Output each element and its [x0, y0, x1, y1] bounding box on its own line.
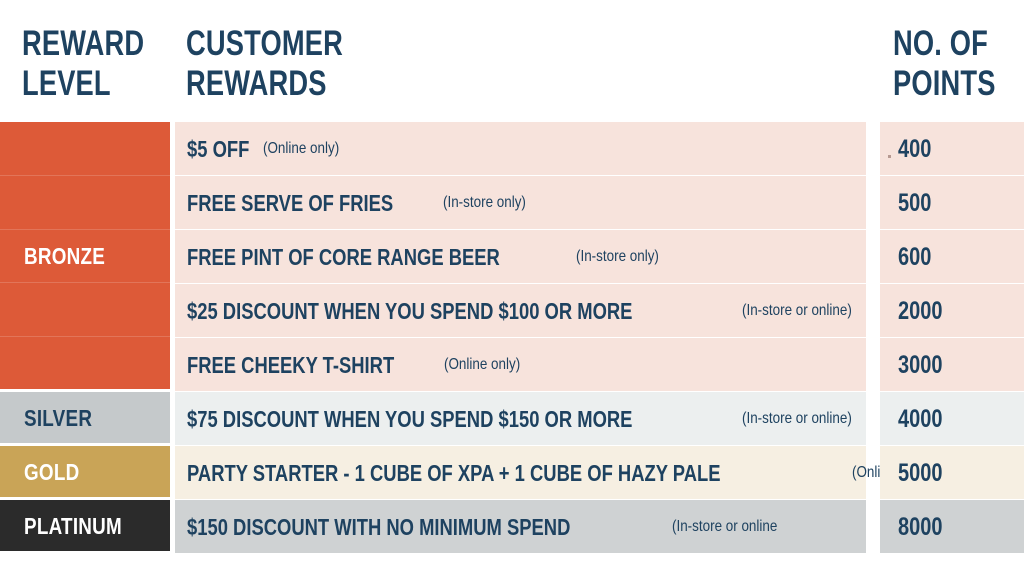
- reward-title: FREE SERVE OF FRIES: [187, 190, 393, 216]
- table-row: $75 DISCOUNT WHEN YOU SPEND $150 OR MORE…: [0, 392, 1024, 445]
- points-cell: 2000: [880, 284, 1024, 337]
- points-cell: 500: [880, 176, 1024, 229]
- reward-cell: FREE PINT OF CORE RANGE BEER (In-store o…: [175, 230, 866, 283]
- reward-title: $25 DISCOUNT WHEN YOU SPEND $100 OR MORE: [187, 298, 632, 324]
- table-body: BRONZE SILVER GOLD PLATINUM $5 OFF (Onli…: [0, 122, 1024, 573]
- points-value: 400: [898, 135, 931, 163]
- points-cell: 5000: [880, 446, 1024, 499]
- speck-artifact: [888, 155, 891, 158]
- reward-cell: $5 OFF (Online only): [175, 122, 866, 175]
- table-row: $5 OFF (Online only) 400: [0, 122, 1024, 175]
- reward-title: FREE PINT OF CORE RANGE BEER: [187, 244, 500, 270]
- reward-cell: $150 DISCOUNT WITH NO MINIMUM SPEND (In-…: [175, 500, 866, 553]
- reward-title: PARTY STARTER - 1 CUBE OF XPA + 1 CUBE O…: [187, 460, 721, 486]
- reward-note: (In-store or online): [742, 298, 852, 324]
- table-header: REWARD LEVEL CUSTOMER REWARDS NO. OF POI…: [0, 0, 1024, 122]
- reward-note: (In-store only): [576, 244, 659, 270]
- points-value: 8000: [898, 513, 943, 541]
- points-value: 3000: [898, 351, 943, 379]
- reward-cell: $25 DISCOUNT WHEN YOU SPEND $100 OR MORE…: [175, 284, 866, 337]
- points-cell: 8000: [880, 500, 1024, 553]
- points-cell: 600: [880, 230, 1024, 283]
- points-value: 2000: [898, 297, 943, 325]
- points-value: 4000: [898, 405, 943, 433]
- points-value: 5000: [898, 459, 943, 487]
- points-cell: 3000: [880, 338, 1024, 391]
- points-cell: 4000: [880, 392, 1024, 445]
- reward-cell: FREE CHEEKY T-SHIRT (Online only): [175, 338, 866, 391]
- column-header-no-of-points: NO. OF POINTS: [893, 24, 1024, 104]
- reward-cell: PARTY STARTER - 1 CUBE OF XPA + 1 CUBE O…: [175, 446, 866, 499]
- reward-title: $150 DISCOUNT WITH NO MINIMUM SPEND: [187, 514, 570, 540]
- table-row: PARTY STARTER - 1 CUBE OF XPA + 1 CUBE O…: [0, 446, 1024, 499]
- column-header-customer-rewards: CUSTOMER REWARDS: [186, 24, 498, 104]
- reward-note: (In-store or online): [742, 406, 852, 432]
- reward-title: $75 DISCOUNT WHEN YOU SPEND $150 OR MORE: [187, 406, 632, 432]
- reward-note: (Online only): [263, 136, 339, 162]
- table-row: FREE CHEEKY T-SHIRT (Online only) 3000: [0, 338, 1024, 391]
- reward-title: $5 OFF: [187, 136, 249, 162]
- reward-title: FREE CHEEKY T-SHIRT: [187, 352, 394, 378]
- table-row: FREE SERVE OF FRIES (In-store only) 500: [0, 176, 1024, 229]
- points-cell: 400: [880, 122, 1024, 175]
- reward-note: (Online only): [444, 352, 520, 378]
- points-value: 600: [898, 243, 931, 271]
- points-value: 500: [898, 189, 931, 217]
- table-row: $150 DISCOUNT WITH NO MINIMUM SPEND (In-…: [0, 500, 1024, 553]
- reward-note: (In-store only): [443, 190, 526, 216]
- reward-note: (In-store or online: [672, 514, 777, 540]
- reward-cell: $75 DISCOUNT WHEN YOU SPEND $150 OR MORE…: [175, 392, 866, 445]
- table-row: FREE PINT OF CORE RANGE BEER (In-store o…: [0, 230, 1024, 283]
- table-row: $25 DISCOUNT WHEN YOU SPEND $100 OR MORE…: [0, 284, 1024, 337]
- reward-cell: FREE SERVE OF FRIES (In-store only): [175, 176, 866, 229]
- rewards-table: REWARD LEVEL CUSTOMER REWARDS NO. OF POI…: [0, 0, 1024, 573]
